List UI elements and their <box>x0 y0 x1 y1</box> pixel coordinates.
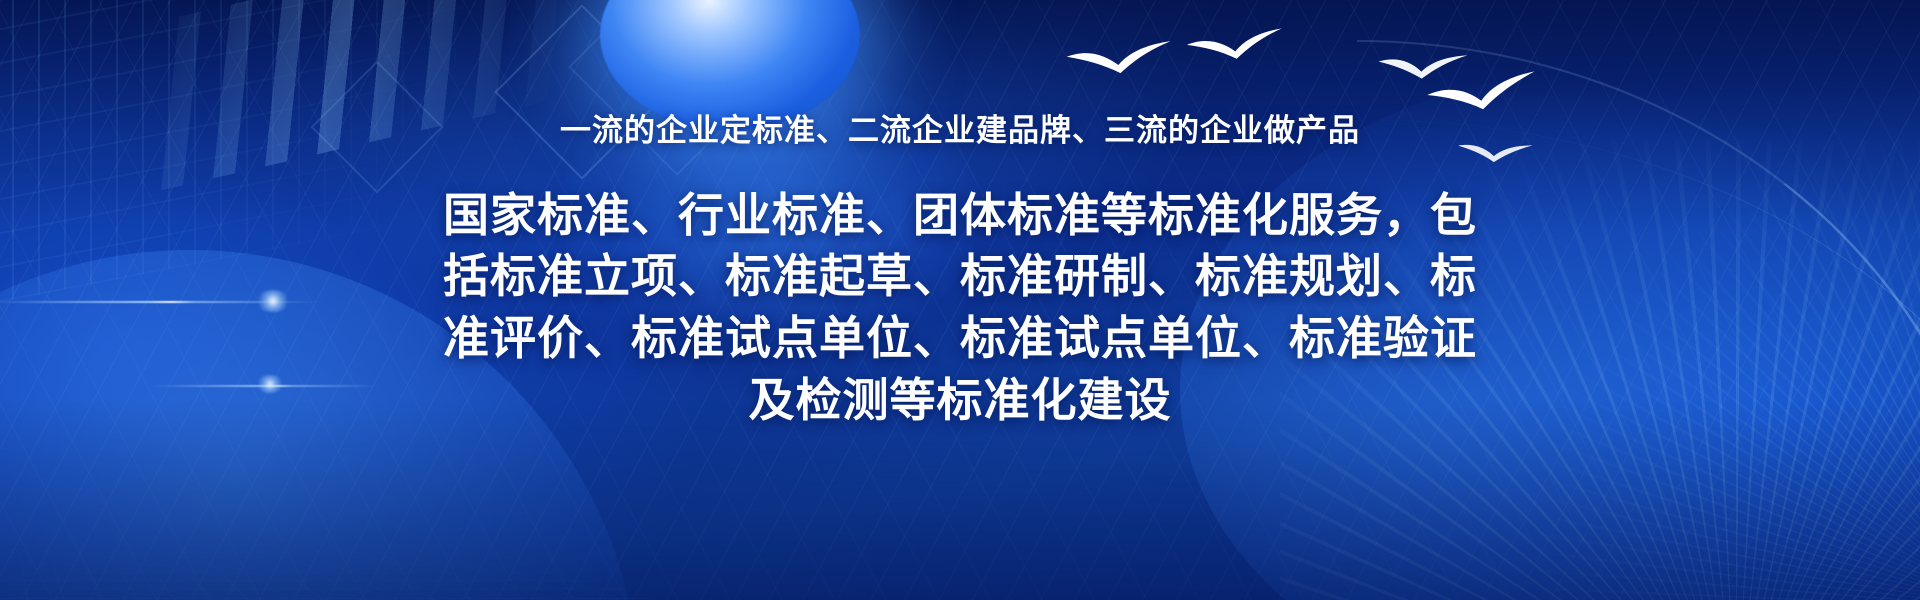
banner-headline: 一流的企业定标准、二流企业建品牌、三流的企业做产品 <box>560 112 1360 151</box>
promo-banner: 一流的企业定标准、二流企业建品牌、三流的企业做产品 国家标准、行业标准、团体标准… <box>0 0 1920 600</box>
banner-subhead: 国家标准、行业标准、团体标准等标准化服务，包括标准立项、标准起草、标准研制、标准… <box>440 185 1480 432</box>
banner-text-block: 一流的企业定标准、二流企业建品牌、三流的企业做产品 国家标准、行业标准、团体标准… <box>0 0 1920 600</box>
